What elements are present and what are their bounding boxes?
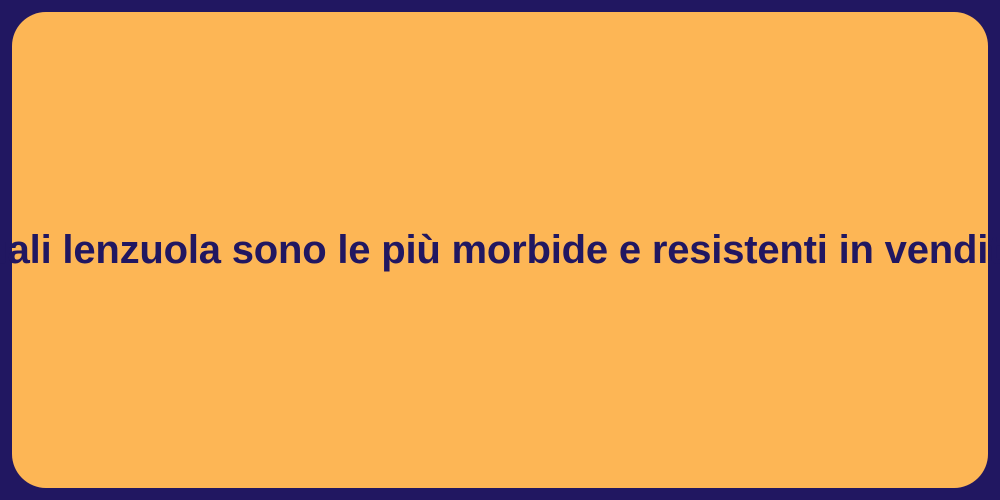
card-panel: Quali lenzuola sono le più morbide e res… — [12, 12, 988, 488]
question-heading: Quali lenzuola sono le più morbide e res… — [0, 225, 1000, 275]
card-outer-frame: Quali lenzuola sono le più morbide e res… — [0, 0, 1000, 500]
